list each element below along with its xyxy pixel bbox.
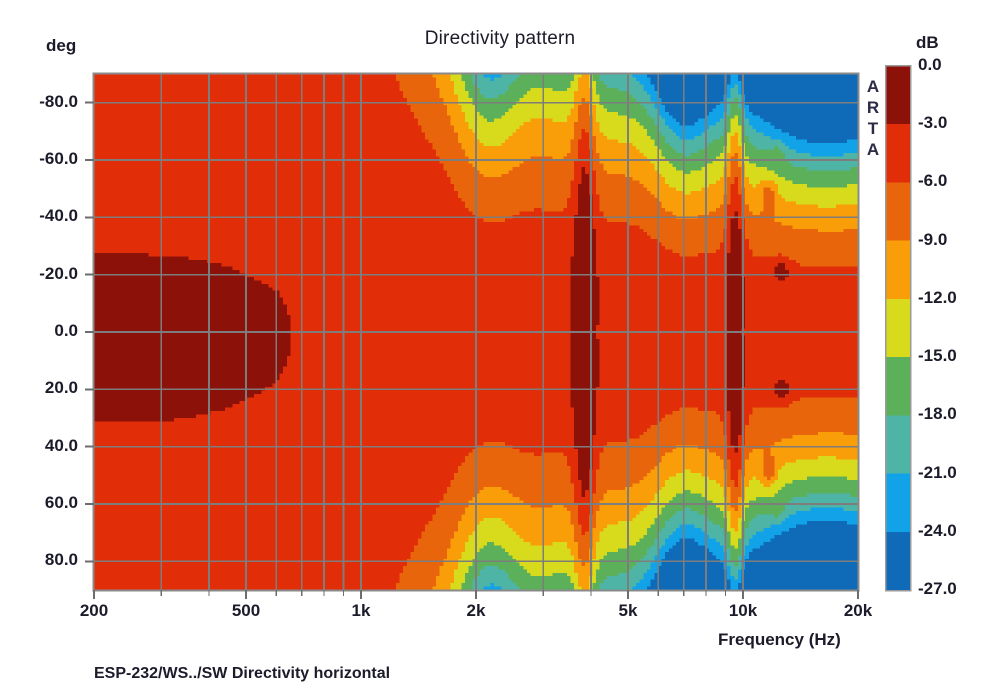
- grid-lines: [94, 74, 858, 590]
- colorbar[interactable]: [886, 66, 911, 591]
- plot-area: [0, 0, 1000, 698]
- directivity-chart: Directivity pattern deg dB Frequency (Hz…: [0, 0, 1000, 698]
